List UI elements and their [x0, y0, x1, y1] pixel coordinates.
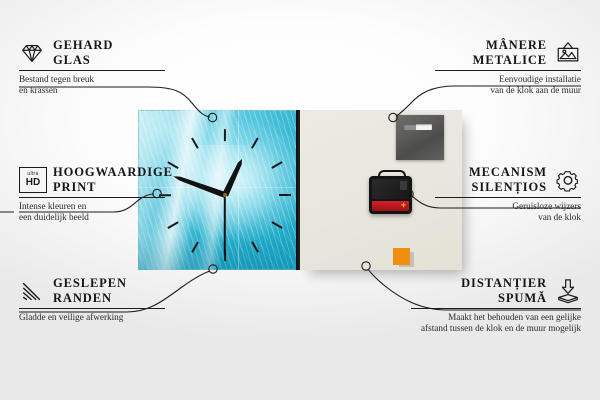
hour-tick [271, 221, 282, 229]
feature-gehard-glas: GEHARD GLAS Bestand tegen breuk en krass… [19, 38, 165, 97]
feature-sub-line1: Geruisloze wijzers [435, 201, 581, 213]
feature-title-line1: GEHARD [53, 38, 113, 53]
feature-geslepen-randen: GESLEPEN RANDEN Gladde en veilige afwerk… [19, 276, 165, 323]
feature-distantier-spuma: DISTANȚIER SPUMĂ Maakt het behouden van … [411, 276, 581, 335]
second-hand [224, 195, 226, 255]
battery-plus-icon: + [400, 201, 407, 210]
diamond-icon [19, 40, 45, 66]
gear-icon [555, 167, 581, 193]
feature-sub-line2: een duidelijk beeld [19, 212, 165, 224]
hour-tick [167, 221, 178, 229]
center-pin [223, 193, 227, 197]
metal-hanger [396, 115, 444, 160]
hanger-slot [404, 124, 432, 130]
beveled-edges-icon [19, 278, 45, 304]
feature-title-line1: HOOGWAARDIGE [53, 165, 173, 180]
picture-frame-icon [555, 40, 581, 66]
hour-hand [222, 157, 245, 196]
hour-tick [224, 129, 226, 141]
feature-title-line1: MÂNERE [473, 38, 547, 53]
feature-title-line1: GESLEPEN [53, 276, 127, 291]
foam-spacer [393, 248, 410, 265]
ultra-hd-icon: ultra HD [19, 167, 45, 193]
feature-title-line1: MECANISM [469, 165, 547, 180]
hour-tick [191, 241, 199, 252]
feature-title-line2: SPUMĂ [461, 291, 547, 306]
spacer-arrow-icon [555, 278, 581, 304]
feature-sub-line2: van de klok aan de muur [435, 85, 581, 97]
hour-tick [251, 137, 259, 148]
feature-sub-line2: van de klok [435, 212, 581, 224]
hour-tick [279, 194, 291, 196]
product-infographic: + GEHARD GLAS [0, 0, 600, 400]
feature-sub-line2: en krassen [19, 85, 165, 97]
feature-mecanism-silentios: MECANISM SILENȚIOS Geruisloze wijzers va… [435, 165, 581, 224]
quartz-mechanism: + [369, 176, 412, 214]
feature-title-line1: DISTANȚIER [461, 276, 547, 291]
feature-sub-line2: afstand tussen de klok en de muur mogeli… [411, 323, 581, 335]
feature-title-line2: RANDEN [53, 291, 127, 306]
feature-sub-line1: Bestand tegen breuk [19, 74, 165, 86]
feature-sub-line1: Eenvoudige installatie [435, 74, 581, 86]
mechanism-knob [400, 181, 407, 190]
ultra-hd-big-label: HD [26, 178, 40, 188]
hour-tick [191, 137, 199, 148]
hour-tick [271, 161, 282, 169]
feature-hoogwaardige-print: ultra HD HOOGWAARDIGE PRINT Intense kleu… [19, 165, 165, 224]
feature-manere-metalice: MÂNERE METALICE Eenvoudige installatie v… [435, 38, 581, 97]
feature-title-line2: METALICE [473, 53, 547, 68]
feature-title-line2: GLAS [53, 53, 113, 68]
hour-tick [251, 241, 259, 252]
feature-title-line2: SILENȚIOS [469, 180, 547, 195]
feature-sub-line1: Gladde en veilige afwerking [19, 312, 165, 324]
feature-sub-line1: Intense kleuren en [19, 201, 165, 213]
feature-title-line2: PRINT [53, 180, 173, 195]
feature-sub-line1: Maakt het behouden van een gelijke [411, 312, 581, 324]
minute-hand [172, 173, 226, 197]
battery: + [372, 201, 409, 211]
